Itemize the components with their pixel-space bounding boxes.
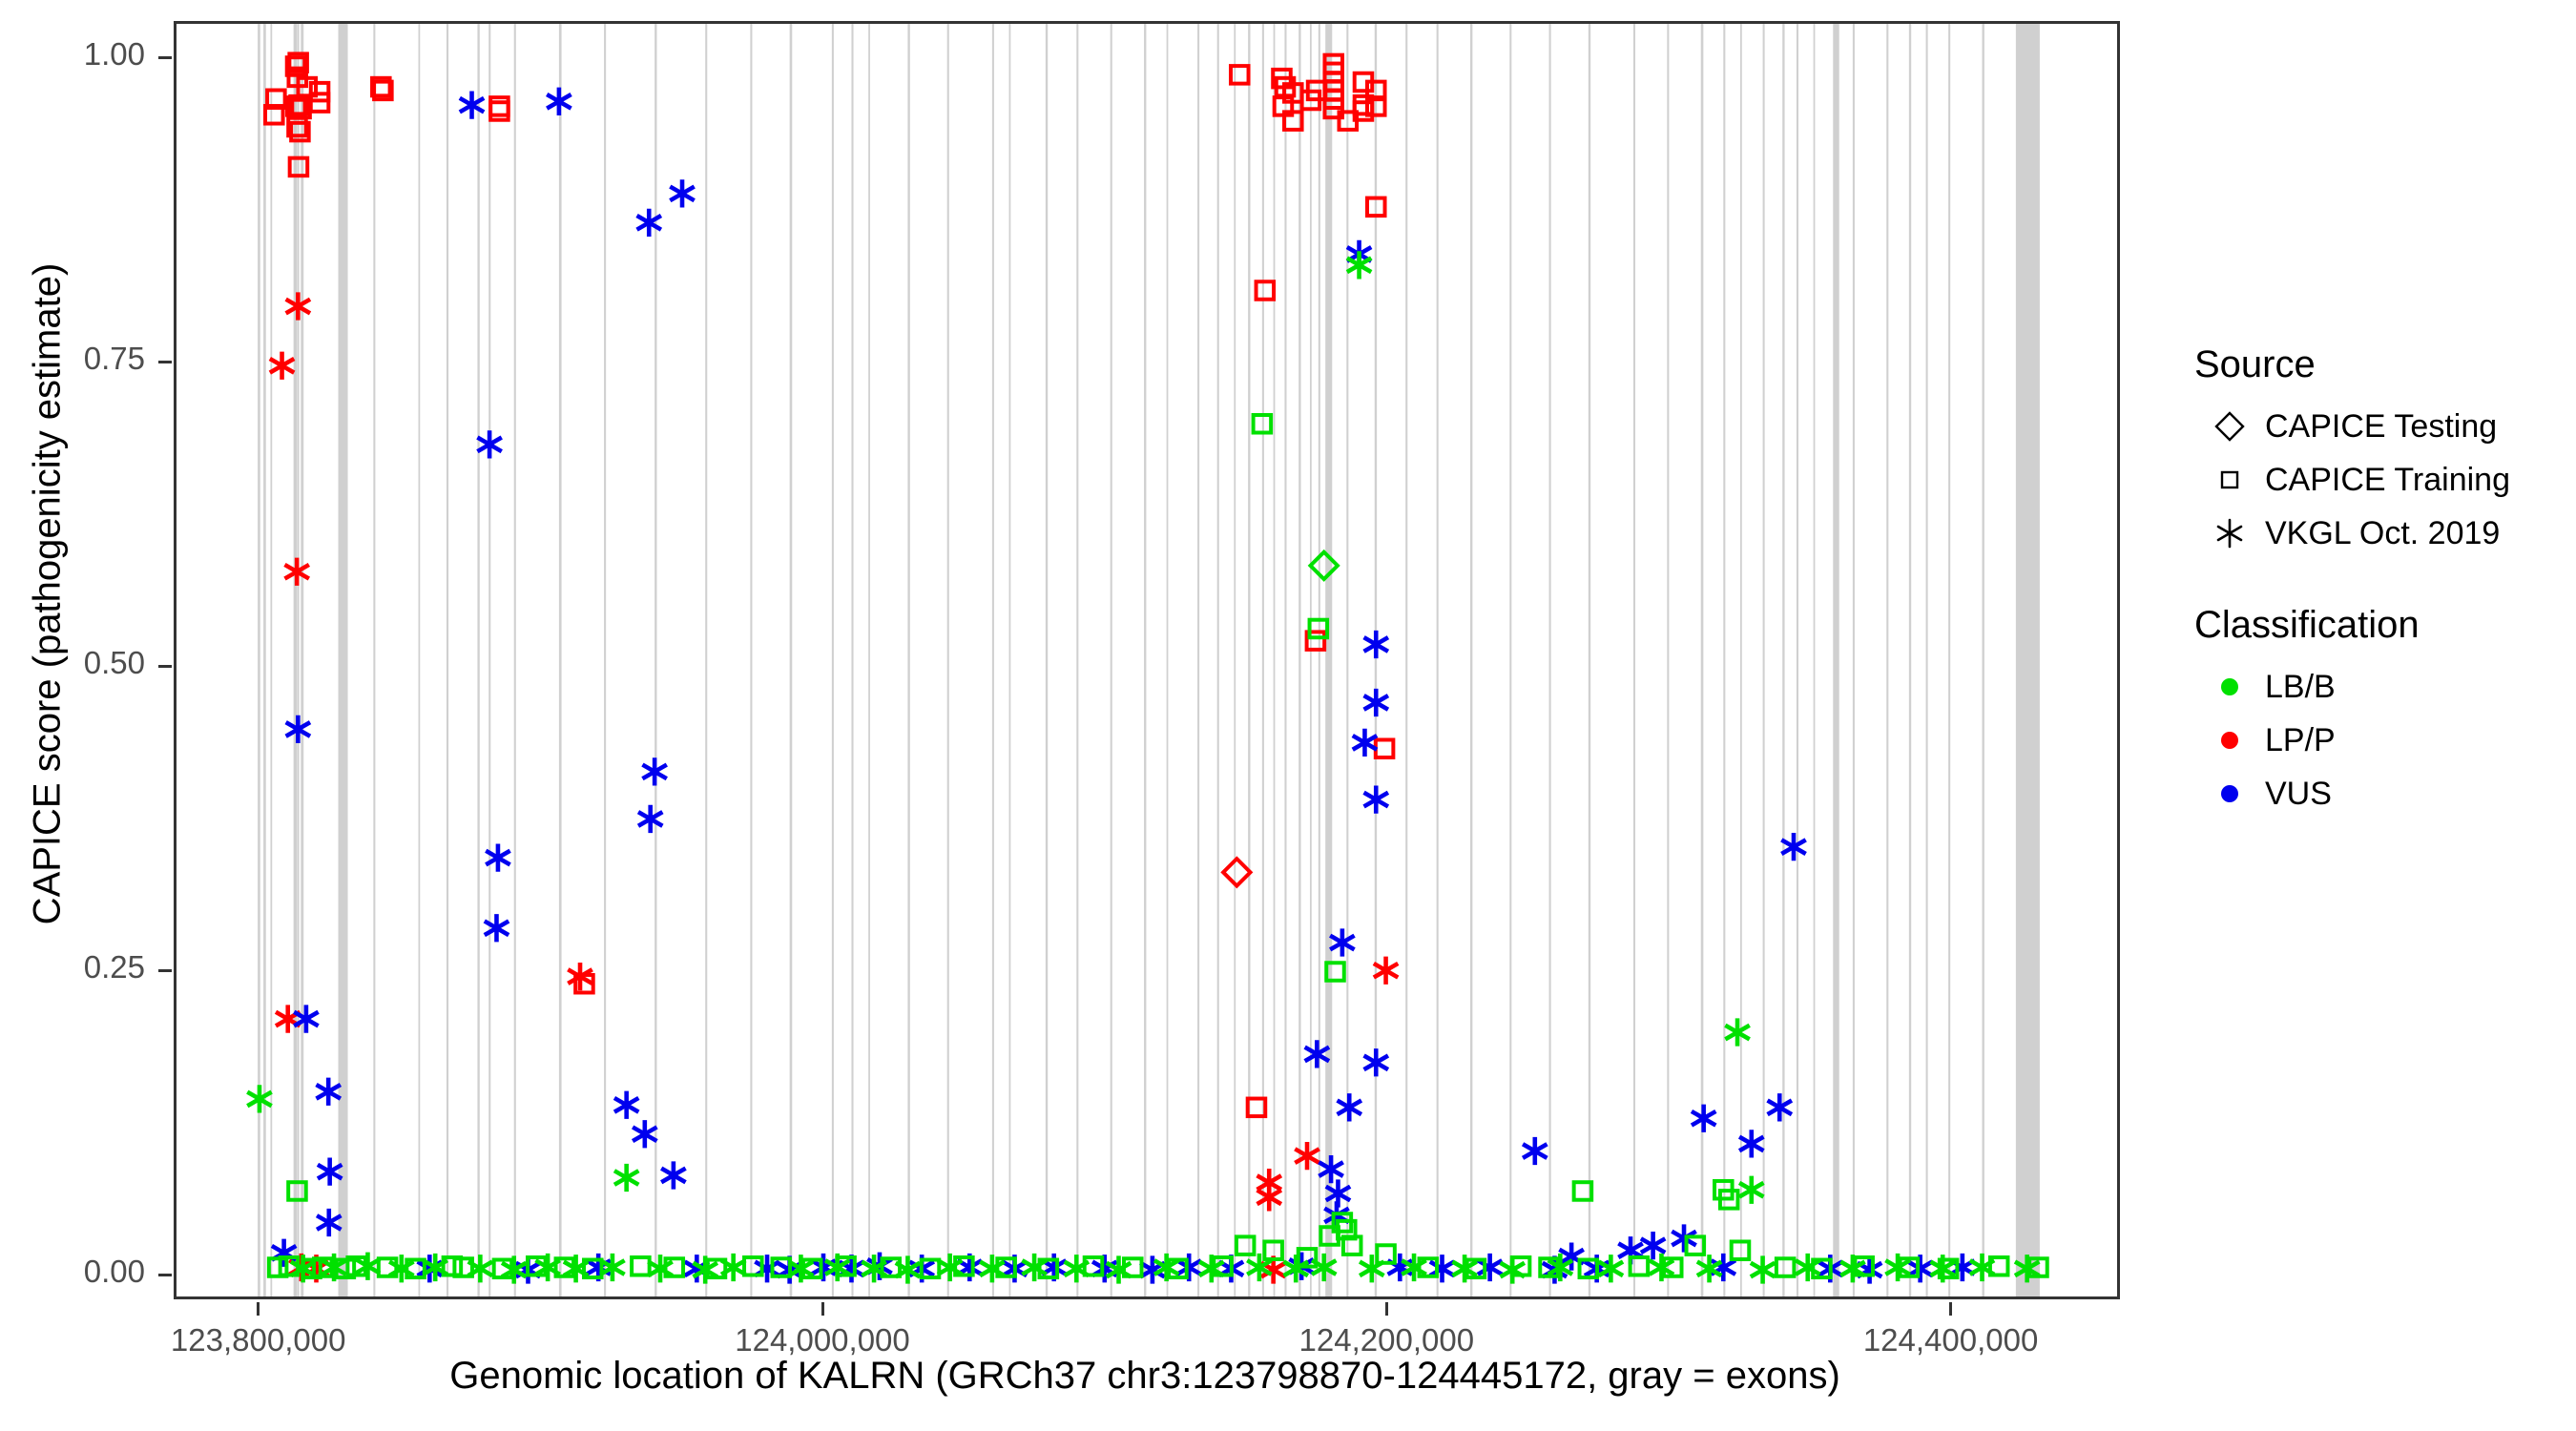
data-point [1725,1018,1749,1046]
series-lp-p-asterisk [270,292,1398,1283]
data-point [1248,1099,1266,1117]
y-tick-label: 0.25 [21,949,145,985]
x-tick-mark [821,1302,824,1316]
data-point [614,1091,638,1119]
data-point [1376,739,1394,757]
data-point [490,102,509,120]
data-point [290,158,308,176]
data-point [286,715,310,743]
series-lb-b-asterisk [247,251,2039,1283]
data-point [490,97,509,115]
data-point [661,1161,685,1189]
legend-item-vus[interactable]: VUS [2194,767,2557,820]
data-point [1768,1093,1792,1121]
data-point [1388,1254,1412,1281]
circle-blue-icon [2194,777,2265,811]
data-point [477,430,501,458]
data-point [1338,1093,1361,1121]
data-point [1781,833,1805,861]
y-tick-label: 1.00 [21,36,145,73]
data-point [294,1005,318,1032]
data-point [1311,552,1338,579]
data-point [1631,1257,1649,1275]
series-vus-asterisk [272,88,1975,1284]
legend-item-lpp[interactable]: LP/P [2194,714,2557,767]
series-lp-p-square [265,53,1393,1116]
series-lb-b-diamond [1311,552,1338,579]
data-point [316,1078,340,1106]
y-tick-mark [158,361,172,363]
data-point [632,1257,650,1275]
circle-green-icon [2194,670,2265,704]
legend-group-classification: Classification LB/B LP/P VUS [2194,604,2557,820]
legend-label-capice-testing: CAPICE Testing [2265,408,2497,446]
square-icon [2194,463,2265,497]
data-point [1751,1255,1775,1283]
series-lp-p-diamond [1223,859,1250,885]
data-point [1231,66,1249,84]
data-point [1732,1241,1750,1259]
y-tick-mark [158,969,172,972]
x-tick-mark [257,1302,260,1316]
asterisk-icon [2194,516,2265,550]
data-point [1377,1245,1395,1263]
data-point [485,914,509,942]
data-point [317,1209,341,1236]
legend-label-lbb: LB/B [2265,669,2336,706]
x-tick-mark [1949,1302,1952,1316]
data-point [1305,1040,1329,1068]
data-point [1364,631,1388,658]
data-point [614,1164,638,1192]
legend-title-classification: Classification [2194,604,2557,647]
data-point [1326,963,1344,981]
data-point [1574,1182,1592,1200]
data-point [633,1120,656,1148]
data-point [1360,1255,1383,1282]
data-point [486,843,509,871]
legend-group-source: Source CAPICE Testing CAPICE Training [2194,343,2557,560]
legend-item-lbb[interactable]: LB/B [2194,660,2557,714]
data-point [284,558,308,586]
legend-item-capice-training[interactable]: CAPICE Training [2194,453,2557,507]
x-tick-label: 124,000,000 [670,1322,975,1358]
legend-label-capice-training: CAPICE Training [2265,462,2510,499]
data-point [1236,1236,1255,1255]
data-point [547,88,571,115]
legend: Source CAPICE Testing CAPICE Training [2194,343,2557,864]
x-tick-label: 123,800,000 [106,1322,411,1358]
data-point [1739,1130,1763,1157]
data-point [1295,1142,1319,1170]
data-point [1364,1048,1388,1076]
data-point [1776,1258,1795,1276]
data-point [1330,928,1354,956]
data-point [1692,1105,1715,1132]
data-point [276,1005,300,1032]
data-point [247,1085,271,1112]
y-tick-mark [158,665,172,668]
data-point [1257,281,1275,300]
legend-label-vus: VUS [2265,776,2332,813]
x-tick-label: 124,400,000 [1798,1322,2104,1358]
data-point [1364,785,1388,813]
x-tick-mark [1385,1302,1388,1316]
y-tick-label: 0.75 [21,341,145,377]
capice-scatter-figure: CAPICE score (pathogenicity estimate) 0.… [0,0,2576,1431]
data-point [288,1182,306,1200]
legend-label-vkgl: VKGL Oct. 2019 [2265,515,2500,552]
data-point [600,1254,624,1281]
y-tick-label: 0.00 [21,1254,145,1290]
series-lb-b-square [269,415,2047,1277]
legend-label-lpp: LP/P [2265,722,2336,759]
data-point [1739,1176,1763,1204]
data-point [460,91,484,118]
x-tick-label: 124,200,000 [1234,1322,1539,1358]
y-tick-label: 0.50 [21,645,145,681]
data-point [1347,251,1371,279]
data-point [637,209,661,237]
y-tick-mark [158,1274,172,1276]
data-point [1319,1155,1342,1183]
diamond-icon [2194,409,2265,444]
data-points-layer [177,24,2117,1296]
data-point [642,757,666,785]
data-point [1223,859,1250,885]
data-point [1364,689,1388,716]
legend-item-vkgl[interactable]: VKGL Oct. 2019 [2194,507,2557,560]
data-point [311,83,329,101]
data-point [1523,1137,1547,1165]
data-point [1367,198,1385,217]
data-point [638,805,662,833]
data-point [286,292,310,320]
data-point [1353,729,1377,757]
circle-red-icon [2194,723,2265,757]
x-axis-title: Genomic location of KALRN (GRCh37 chr3:1… [0,1355,2290,1398]
data-point [1858,1255,1881,1283]
data-point [318,1158,342,1186]
y-tick-mark [158,56,172,59]
legend-title-source: Source [2194,343,2557,386]
legend-item-capice-testing[interactable]: CAPICE Testing [2194,400,2557,453]
plot-panel [174,21,2120,1299]
data-point [1254,415,1272,433]
data-point [1374,957,1398,985]
data-point [270,352,294,380]
data-point [670,179,694,207]
